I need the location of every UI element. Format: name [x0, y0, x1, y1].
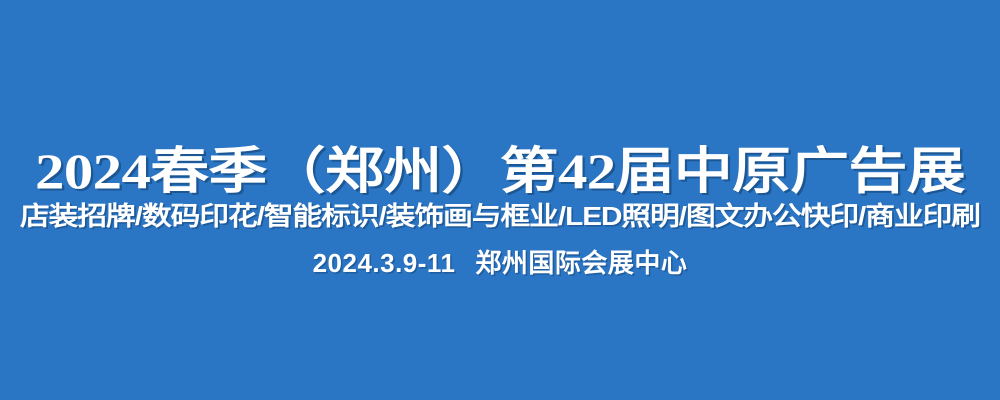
banner-text-block: 2024春季（郑州）第42届中原广告展 店装招牌/数码印花/智能标识/装饰画与框…: [0, 0, 1000, 400]
event-banner: 2024春季（郑州）第42届中原广告展 店装招牌/数码印花/智能标识/装饰画与框…: [0, 0, 1000, 400]
banner-subtitle-categories: 店装招牌/数码印花/智能标识/装饰画与框业/LED照明/图文办公快印/商业印刷: [20, 201, 980, 231]
banner-headline: 2024春季（郑州）第42届中原广告展: [35, 143, 965, 199]
banner-dateline: 2024.3.9-11郑州国际会展中心: [0, 247, 1000, 279]
event-venue: 郑州国际会展中心: [475, 248, 687, 278]
event-date: 2024.3.9-11: [313, 248, 456, 278]
